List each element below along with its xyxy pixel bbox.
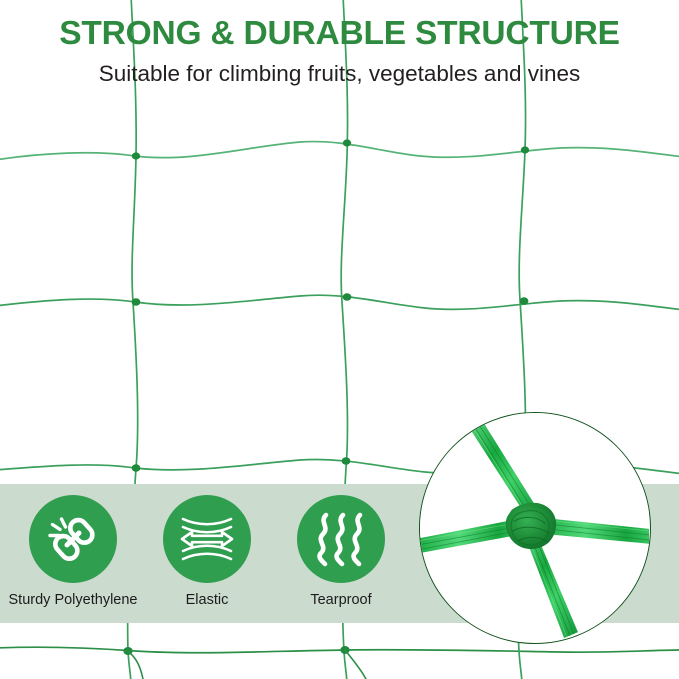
feature-label: Sturdy Polyethylene xyxy=(9,592,138,609)
feature-badge xyxy=(29,495,117,583)
page-title: STRONG & DURABLE STRUCTURE xyxy=(0,14,679,54)
feature-item-sturdy-polyethylene: Sturdy Polyethylene xyxy=(6,484,140,609)
page-subtitle: Suitable for climbing fruits, vegetables… xyxy=(0,60,679,88)
knot-closeup-magnifier xyxy=(419,412,651,644)
stretch-arrow-icon xyxy=(176,510,238,568)
feature-item-tearproof: Tearproof xyxy=(274,484,408,609)
feature-item-elastic: Elastic xyxy=(140,484,274,609)
feature-badge xyxy=(297,495,385,583)
wavy-lines-icon xyxy=(313,510,369,568)
headline-block: STRONG & DURABLE STRUCTURE Suitable for … xyxy=(0,14,679,88)
feature-list: Sturdy Polyethylene Elastic xyxy=(0,484,420,623)
feature-label: Elastic xyxy=(186,592,229,609)
knot-closeup-illustration xyxy=(420,413,649,642)
feature-label: Tearproof xyxy=(310,592,371,609)
product-feature-poster: STRONG & DURABLE STRUCTURE Suitable for … xyxy=(0,0,679,679)
chain-link-icon xyxy=(44,510,102,568)
feature-badge xyxy=(163,495,251,583)
